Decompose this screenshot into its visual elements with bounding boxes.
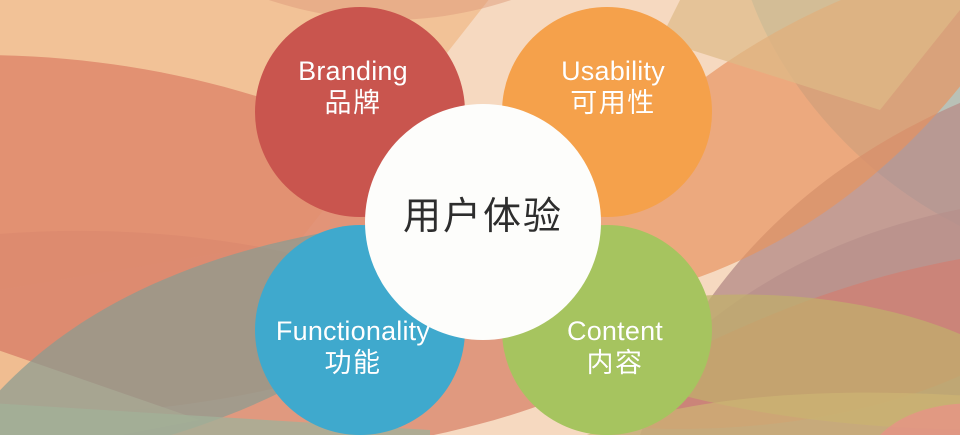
label-content[interactable]: Content 内容 [510, 316, 720, 380]
label-branding-cn: 品牌 [248, 88, 458, 120]
label-center-ux[interactable]: 用户体验 [363, 198, 603, 236]
ux-diagram-canvas: Branding 品牌 Usability 可用性 Functionality … [0, 0, 960, 435]
label-branding[interactable]: Branding 品牌 [248, 56, 458, 120]
label-branding-en: Branding [248, 56, 458, 88]
label-functionality[interactable]: Functionality 功能 [238, 316, 468, 380]
label-functionality-cn: 功能 [238, 348, 468, 380]
label-content-cn: 内容 [510, 348, 720, 380]
label-content-en: Content [510, 316, 720, 348]
label-usability-cn: 可用性 [508, 88, 718, 120]
label-functionality-en: Functionality [238, 316, 468, 348]
label-usability[interactable]: Usability 可用性 [508, 56, 718, 120]
label-usability-en: Usability [508, 56, 718, 88]
